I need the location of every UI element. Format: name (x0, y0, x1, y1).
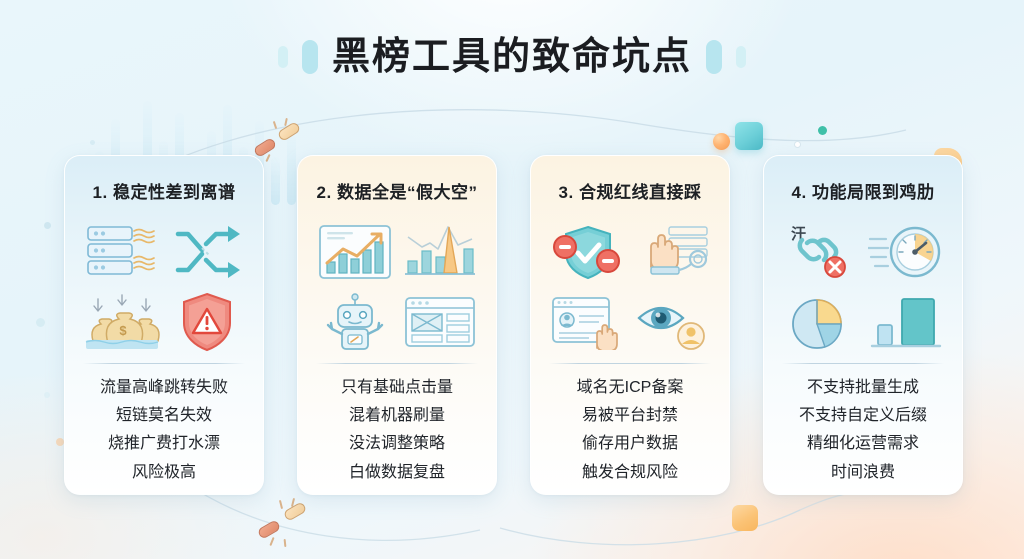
decorative-dot-c (44, 392, 50, 398)
speedometer-icon (865, 219, 947, 285)
decorative-orange-square-bottom (732, 505, 758, 531)
card-divider (782, 363, 944, 364)
decorative-broken-link-bottom (258, 500, 318, 544)
handcuff-hand-icon (632, 219, 714, 285)
list-item: 只有基础点击量 (341, 376, 453, 399)
browser-window-icon (399, 289, 481, 355)
shuffle-arrows-icon (166, 219, 248, 285)
list-item: 风险极高 (132, 461, 196, 484)
card-divider (83, 363, 245, 364)
shield-prohibited-icon (547, 219, 629, 285)
list-item: 流量高峰跳转失败 (100, 376, 228, 399)
server-rack-icon (81, 219, 163, 285)
card-divider (316, 363, 478, 364)
card-icon-grid (312, 217, 482, 357)
list-item: 触发合规风险 (582, 461, 678, 484)
pie-chart-icon (780, 289, 862, 355)
list-item: 易被平台封禁 (582, 404, 678, 427)
card-bullet-list: 只有基础点击量 混着机器刷量 没法调整策略 白做数据复盘 (298, 376, 496, 484)
card-bullet-list: 域名无ICP备案 易被平台封禁 偷存用户数据 触发合规风险 (531, 376, 729, 484)
list-item: 域名无ICP备案 (577, 376, 684, 399)
list-item: 时间浪费 (831, 461, 895, 484)
card-limited-features[interactable]: 4. 功能局限到鸡肋 汗 (763, 155, 963, 495)
page-title: 黑榜工具的致命坑点 (332, 38, 692, 76)
title-decor-pill-right-small (736, 46, 746, 68)
card-icon-grid: $ (79, 217, 249, 357)
card-bullet-list: 流量高峰跳转失败 短链莫名失效 烧推广费打水漂 风险极高 (65, 376, 263, 484)
spike-chart-icon (399, 219, 481, 285)
growth-chart-icon (314, 219, 396, 285)
title-decor-pill-left-small (278, 46, 288, 68)
list-item: 不支持自定义后缀 (799, 404, 927, 427)
broken-chain-link-icon: 汗 (780, 219, 862, 285)
list-item: 没法调整策略 (349, 432, 445, 455)
warning-shield-icon (166, 289, 248, 355)
svg-text:$: $ (119, 323, 127, 338)
title-decor-pill-right-large (706, 40, 722, 74)
list-item: 短链莫名失效 (116, 404, 212, 427)
decorative-broken-link-top (252, 118, 308, 160)
card-compliance[interactable]: 3. 合规红线直接踩 (530, 155, 730, 495)
decorative-green-dot (818, 126, 827, 135)
card-icon-grid: 汗 (778, 217, 948, 357)
list-item: 白做数据复盘 (349, 461, 445, 484)
title-decor-pill-left-large (302, 40, 318, 74)
card-title: 4. 功能局限到鸡肋 (792, 178, 935, 203)
list-item: 不支持批量生成 (807, 376, 919, 399)
page-header: 黑榜工具的致命坑点 (0, 38, 1024, 76)
decorative-orange-sphere (713, 133, 730, 150)
profile-page-hand-icon (547, 289, 629, 355)
decorative-dot-e (90, 140, 95, 145)
card-icon-grid (545, 217, 715, 357)
decorative-dot-d (56, 438, 64, 446)
list-item: 烧推广费打水漂 (108, 432, 220, 455)
list-item: 偷存用户数据 (582, 432, 678, 455)
list-item: 混着机器刷量 (349, 404, 445, 427)
card-title: 3. 合规红线直接踩 (559, 178, 702, 203)
eye-surveillance-icon (632, 289, 714, 355)
decorative-teal-cube (735, 122, 763, 150)
decorative-dot-a (44, 222, 51, 229)
bar-chart-icon (865, 289, 947, 355)
sinking-money-bags-icon: $ (81, 289, 163, 355)
card-stability[interactable]: 1. 稳定性差到离谱 (64, 155, 264, 495)
card-bullet-list: 不支持批量生成 不支持自定义后缀 精细化运营需求 时间浪费 (764, 376, 962, 484)
list-item: 精细化运营需求 (807, 432, 919, 455)
card-row: 1. 稳定性差到离谱 (64, 155, 964, 495)
card-title: 2. 数据全是“假大空” (317, 178, 478, 203)
robot-icon (314, 289, 396, 355)
card-title: 1. 稳定性差到离谱 (93, 178, 236, 203)
card-divider (549, 363, 711, 364)
decorative-dot-b (36, 318, 45, 327)
card-fake-data[interactable]: 2. 数据全是“假大空” (297, 155, 497, 495)
decorative-white-dot (795, 142, 800, 147)
decorative-pale-dot (787, 134, 791, 138)
